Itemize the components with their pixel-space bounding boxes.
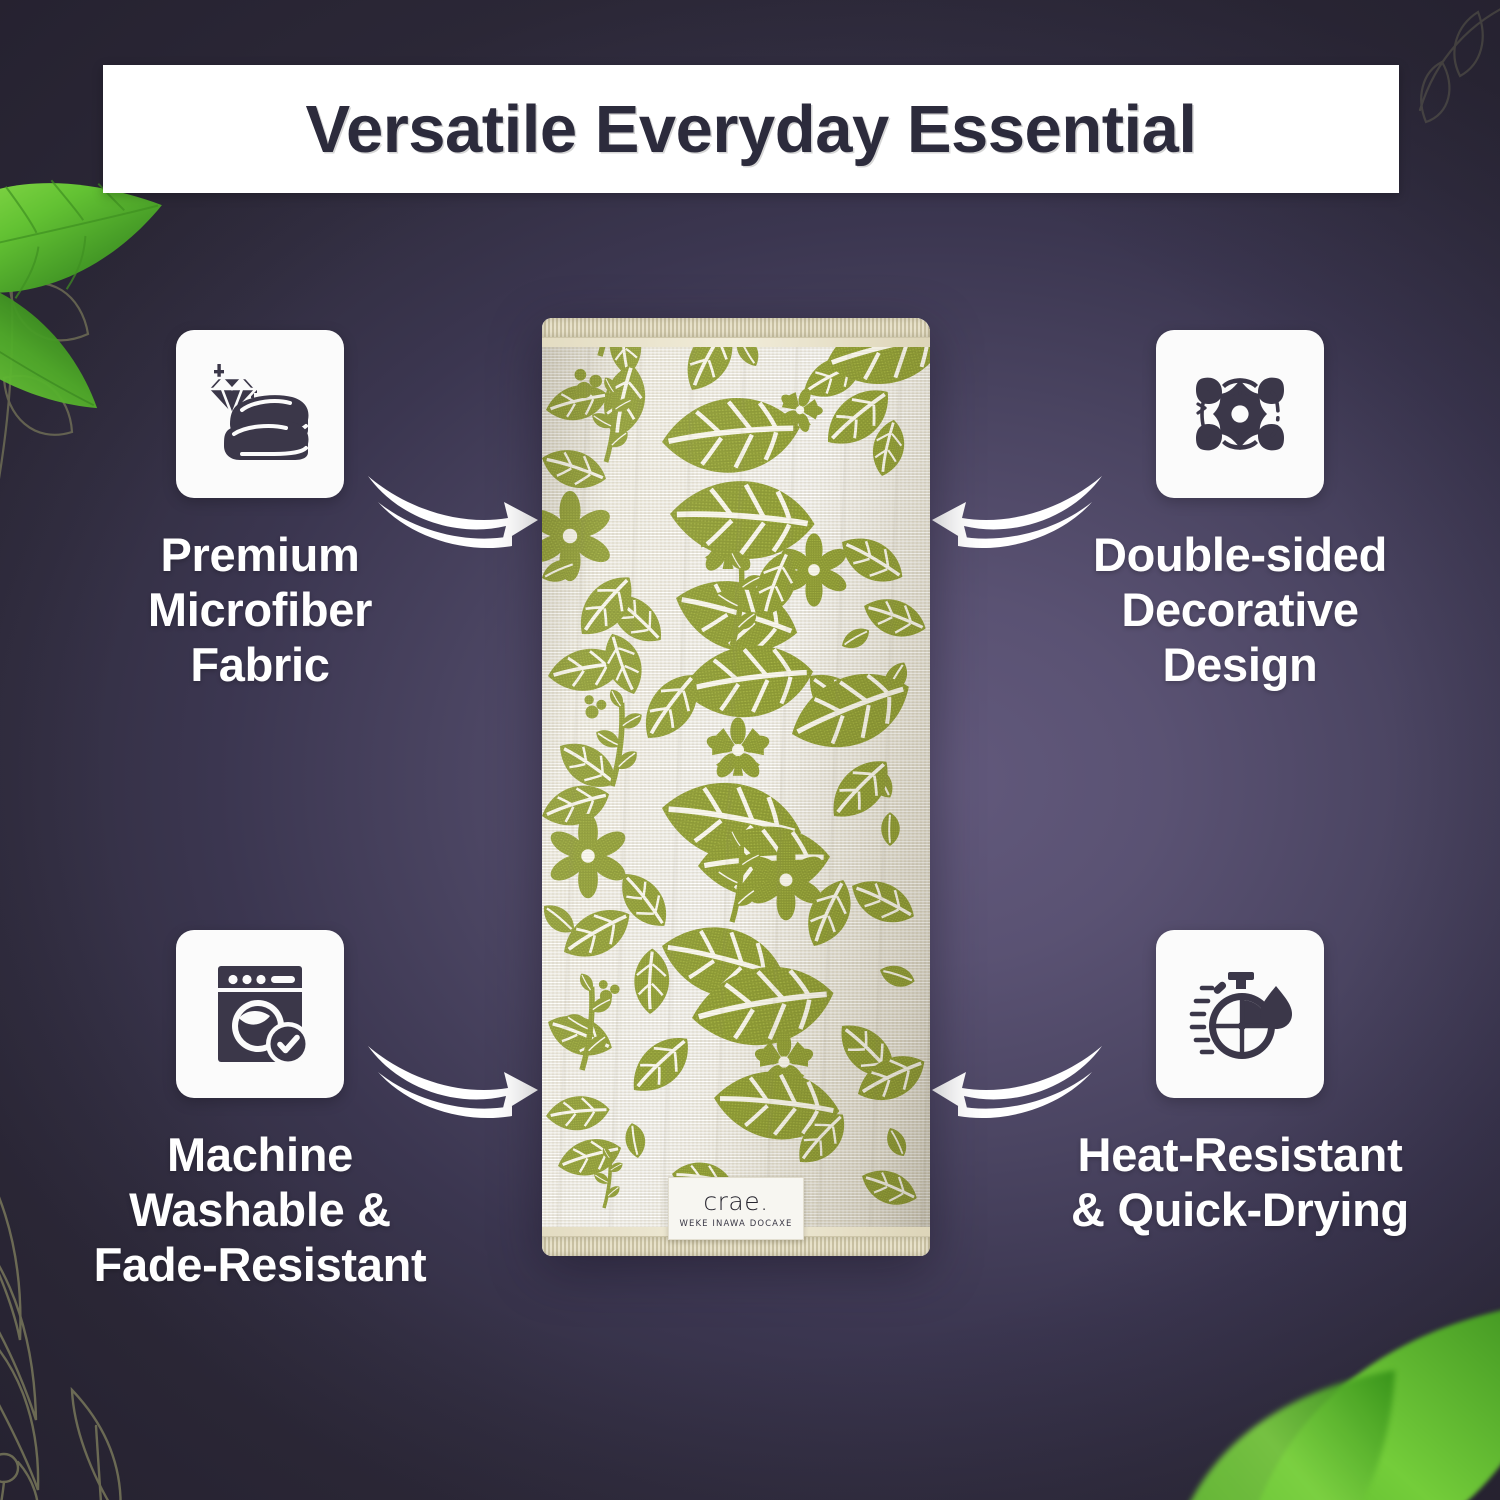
page-title: Versatile Everyday Essential	[305, 91, 1196, 168]
icon-tile-premium-fabric	[176, 330, 344, 498]
towel-shading	[542, 318, 930, 1256]
diamond-folded-towels-icon	[198, 352, 322, 476]
feature-premium-microfiber-fabric: Premium Microfiber Fabric	[60, 330, 460, 693]
washing-machine-check-icon	[198, 952, 322, 1076]
feature-double-sided-decorative-design: Double-sided Decorative Design	[1040, 330, 1440, 693]
product-image-folded-floral-towel: crae. WEKE INAWA DOCAXE	[542, 318, 930, 1256]
feature-label-heat-resistant-quick-drying: Heat-Resistant & Quick-Drying	[1071, 1128, 1409, 1238]
feature-heat-resistant-quick-drying: Heat-Resistant & Quick-Drying	[1025, 930, 1455, 1238]
icon-tile-decorative-design	[1156, 330, 1324, 498]
floral-ornament-icon	[1178, 352, 1302, 476]
feature-machine-washable-fade-resistant: Machine Washable & Fade-Resistant	[45, 930, 475, 1293]
feature-label-premium-microfiber-fabric: Premium Microfiber Fabric	[148, 528, 372, 693]
product-brand-tag: crae. WEKE INAWA DOCAXE	[668, 1177, 804, 1240]
feature-label-machine-washable-fade-resistant: Machine Washable & Fade-Resistant	[94, 1128, 427, 1293]
towel-hem-edge-top	[542, 338, 930, 347]
feature-label-double-sided-decorative-design: Double-sided Decorative Design	[1093, 528, 1387, 693]
towel-fringe-top	[542, 318, 930, 338]
towel-body	[542, 318, 930, 1256]
title-banner: Versatile Everyday Essential	[103, 65, 1399, 193]
brand-name: crae.	[703, 1189, 768, 1214]
brand-subtext: WEKE INAWA DOCAXE	[680, 1219, 793, 1229]
stopwatch-droplet-icon	[1178, 952, 1302, 1076]
icon-tile-machine-washable	[176, 930, 344, 1098]
icon-tile-quick-drying	[1156, 930, 1324, 1098]
